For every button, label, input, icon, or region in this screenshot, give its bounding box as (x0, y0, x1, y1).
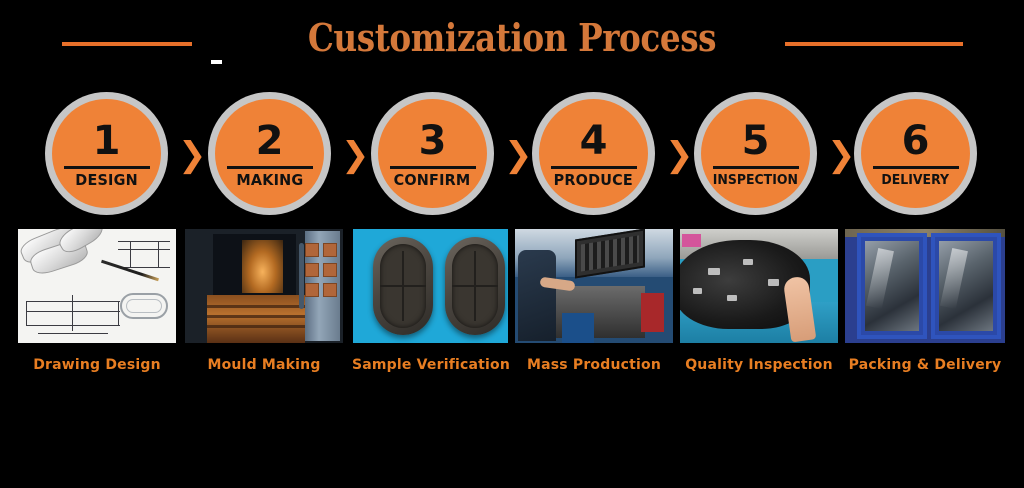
packing-delivery-photo (845, 229, 1005, 343)
step-disc-4: 4 PRODUCE (539, 99, 648, 208)
step-divider-4 (551, 166, 637, 169)
mould-machine-photo (185, 229, 343, 343)
step-divider-3 (390, 166, 476, 169)
step-disc-3: 3 CONFIRM (378, 99, 487, 208)
step-number-2: 2 (256, 121, 284, 161)
step-label-1: DESIGN (75, 172, 138, 189)
caption-step-3: Sample Verification (350, 355, 512, 375)
step-circle-5[interactable]: 5 INSPECTION (694, 92, 817, 215)
caption-step-2: Mould Making (185, 355, 343, 375)
step-label-3: CONFIRM (394, 172, 471, 189)
step-divider-2 (227, 166, 313, 169)
step-number-4: 4 (580, 121, 608, 161)
mass-production-photo (515, 229, 673, 343)
step-disc-5: 5 INSPECTION (701, 99, 810, 208)
step-label-4: PRODUCE (554, 172, 633, 189)
caption-step-1: Drawing Design (18, 355, 176, 375)
chevron-right-icon-5: ❯ (827, 137, 847, 173)
step-circle-3[interactable]: 3 CONFIRM (371, 92, 494, 215)
step-disc-6: 6 DELIVERY (861, 99, 970, 208)
step-number-3: 3 (419, 121, 447, 161)
step-divider-6 (873, 166, 959, 169)
step-circle-6[interactable]: 6 DELIVERY (854, 92, 977, 215)
chevron-right-icon-3: ❯ (504, 137, 524, 173)
chevron-right-icon-1: ❯ (178, 137, 198, 173)
step-label-5: INSPECTION (713, 172, 798, 189)
chevron-right-icon-4: ❯ (665, 137, 685, 173)
step-circle-2[interactable]: 2 MAKING (208, 92, 331, 215)
step-divider-1 (64, 166, 150, 169)
step-disc-2: 2 MAKING (215, 99, 324, 208)
sample-gaskets-photo (353, 229, 508, 343)
customization-process-infographic: Customization Process 1 DESIGN ❯ 2 MAKIN… (0, 0, 1024, 488)
step-number-6: 6 (902, 121, 930, 161)
quality-inspection-photo (680, 229, 838, 343)
step-label-6: DELIVERY (882, 172, 950, 189)
step-divider-5 (713, 166, 799, 169)
step-number-5: 5 (742, 121, 770, 161)
caption-step-5: Quality Inspection (678, 355, 840, 375)
caption-step-4: Mass Production (515, 355, 673, 375)
step-circle-4[interactable]: 4 PRODUCE (532, 92, 655, 215)
blueprint-drawing-photo (18, 229, 176, 343)
step-number-1: 1 (93, 121, 121, 161)
step-circle-1[interactable]: 1 DESIGN (45, 92, 168, 215)
caption-step-6: Packing & Delivery (843, 355, 1007, 375)
step-disc-1: 1 DESIGN (52, 99, 161, 208)
step-label-2: MAKING (236, 172, 303, 189)
chevron-right-icon-2: ❯ (341, 137, 361, 173)
